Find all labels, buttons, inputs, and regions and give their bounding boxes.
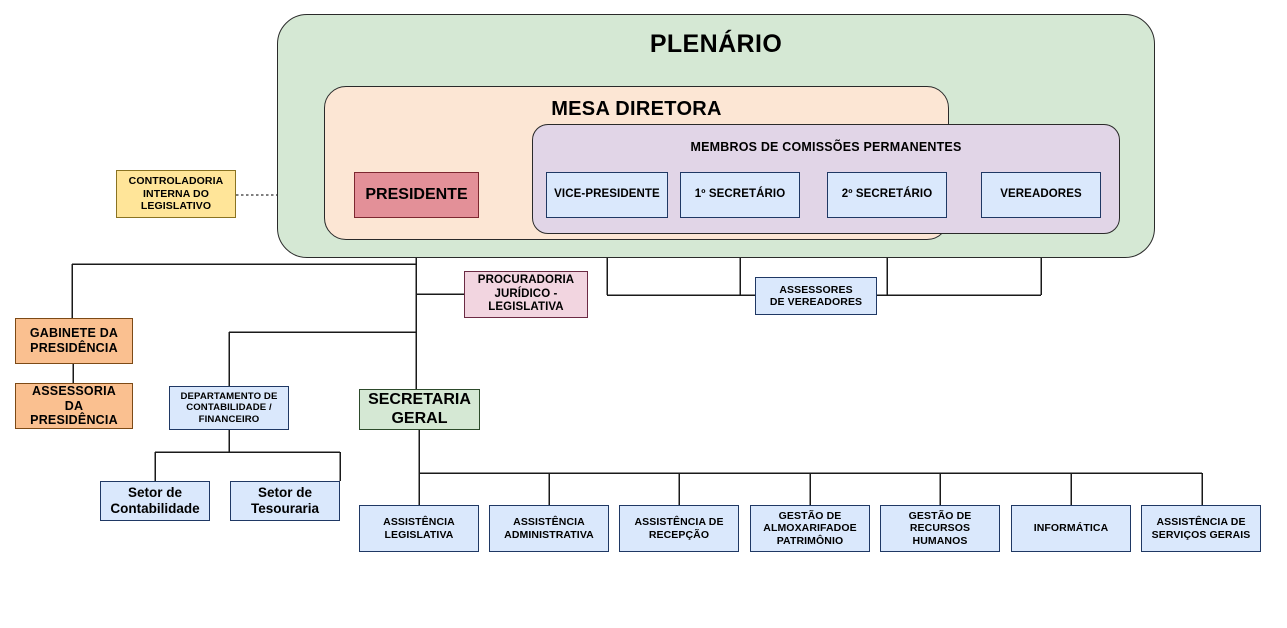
node-label: INFORMÁTICA — [1031, 522, 1112, 534]
label-line: GESTÃO DE — [760, 510, 859, 522]
node-label: PRESIDENTE — [362, 186, 470, 205]
node-secretaria-geral[interactable]: SECRETARIA GERAL — [359, 389, 480, 430]
label-line: LEGISLATIVA — [475, 301, 577, 315]
node-assistencia-legislativa[interactable]: ASSISTÊNCIA LEGISLATIVA — [359, 505, 479, 552]
label-line: Tesouraria — [248, 501, 322, 517]
node-setor-de-tesouraria[interactable]: Setor de Tesouraria — [230, 481, 340, 521]
label-line: ASSESSORES — [767, 284, 865, 296]
node-label: ASSESSORES DE VEREADORES — [764, 284, 868, 309]
label-line: PATRIMÔNIO — [760, 535, 859, 547]
node-assessores-de-vereadores[interactable]: ASSESSORES DE VEREADORES — [755, 277, 877, 315]
node-assistencia-de-recepcao[interactable]: ASSISTÊNCIA DE RECEPÇÃO — [619, 505, 739, 552]
label-line: SECRETARIA — [365, 391, 474, 410]
label-line: ASSISTÊNCIA — [380, 516, 458, 528]
node-label: Setor de Contabilidade — [104, 485, 205, 517]
node-departamento-contabilidade-financeiro[interactable]: DEPARTAMENTO DE CONTABILIDADE / FINANCEI… — [169, 386, 289, 430]
node-label: VICE-PRESIDENTE — [551, 188, 663, 202]
node-label: Setor de Tesouraria — [245, 485, 325, 517]
comissoes-title: MEMBROS DE COMISSÕES PERMANENTES — [533, 141, 1119, 154]
node-label: GABINETE DA PRESIDÊNCIA — [24, 326, 124, 356]
node-vereadores[interactable]: VEREADORES — [981, 172, 1101, 218]
label-line: Setor de — [248, 485, 322, 501]
label-line: CONTABILIDADE / — [178, 402, 281, 413]
node-assistencia-administrativa[interactable]: ASSISTÊNCIA ADMINISTRATIVA — [489, 505, 609, 552]
label-line: DEPARTAMENTO DE — [178, 391, 281, 402]
node-label: CONTROLADORIA INTERNA DO LEGISLATIVO — [123, 175, 230, 212]
label-line: HUMANOS — [906, 535, 975, 547]
node-label: 2º SECRETÁRIO — [839, 188, 936, 202]
label-line: ADMINISTRATIVA — [501, 529, 597, 541]
label-line: DE VEREADORES — [767, 296, 865, 308]
label-line: GABINETE DA — [27, 326, 121, 341]
organizational-chart: PLENÁRIO MESA DIRETORA MEMBROS DE COMISS… — [0, 0, 1287, 628]
node-vice-presidente[interactable]: VICE-PRESIDENTE — [546, 172, 668, 218]
label-line: ASSESSORIA DA — [19, 384, 129, 414]
node-label: ASSISTÊNCIA LEGISLATIVA — [377, 516, 461, 541]
node-label: DEPARTAMENTO DE CONTABILIDADE / FINANCEI… — [175, 391, 284, 425]
node-presidente[interactable]: PRESIDENTE — [354, 172, 479, 218]
node-informatica[interactable]: INFORMÁTICA — [1011, 505, 1131, 552]
node-label: ASSESSORIA DA PRESIDÊNCIA — [16, 384, 132, 428]
label-line: ASSISTÊNCIA DE — [1149, 516, 1254, 528]
label-line: Setor de — [107, 485, 202, 501]
label-line: JURÍDICO - — [475, 288, 577, 302]
node-assistencia-de-servicos-gerais[interactable]: ASSISTÊNCIA DE SERVIÇOS GERAIS — [1141, 505, 1261, 552]
node-label: GESTÃO DE RECURSOS HUMANOS — [903, 510, 978, 547]
node-procuradoria-juridico-legislativa[interactable]: PROCURADORIA JURÍDICO - LEGISLATIVA — [464, 271, 588, 318]
label-line: ALMOXARIFADOE — [760, 522, 859, 534]
node-label: ASSISTÊNCIA DE SERVIÇOS GERAIS — [1146, 516, 1257, 541]
plenario-title: PLENÁRIO — [278, 31, 1154, 57]
label-line: GESTÃO DE — [906, 510, 975, 522]
node-label: ASSISTÊNCIA DE RECEPÇÃO — [628, 516, 729, 541]
label-line: RECURSOS — [906, 522, 975, 534]
label-line: PROCURADORIA — [475, 274, 577, 288]
node-primeiro-secretario[interactable]: 1º SECRETÁRIO — [680, 172, 800, 218]
node-label: PROCURADORIA JURÍDICO - LEGISLATIVA — [472, 274, 580, 315]
node-assessoria-da-presidencia[interactable]: ASSESSORIA DA PRESIDÊNCIA — [15, 383, 133, 429]
node-label: VEREADORES — [997, 188, 1085, 202]
label-line: ASSISTÊNCIA DE — [631, 516, 726, 528]
node-label: GESTÃO DE ALMOXARIFADOE PATRIMÔNIO — [757, 510, 862, 547]
label-line: ASSISTÊNCIA — [501, 516, 597, 528]
node-gabinete-da-presidencia[interactable]: GABINETE DA PRESIDÊNCIA — [15, 318, 133, 364]
label-line: GERAL — [365, 410, 474, 429]
mesa-diretora-title: MESA DIRETORA — [325, 99, 948, 120]
node-label: 1º SECRETÁRIO — [692, 188, 789, 202]
label-line: PRESIDÊNCIA — [19, 413, 129, 428]
node-segundo-secretario[interactable]: 2º SECRETÁRIO — [827, 172, 947, 218]
label-line: CONTROLADORIA — [126, 175, 227, 187]
node-gestao-de-recursos-humanos[interactable]: GESTÃO DE RECURSOS HUMANOS — [880, 505, 1000, 552]
label-line: RECEPÇÃO — [631, 529, 726, 541]
node-label: ASSISTÊNCIA ADMINISTRATIVA — [498, 516, 600, 541]
label-line: SERVIÇOS GERAIS — [1149, 529, 1254, 541]
node-setor-de-contabilidade[interactable]: Setor de Contabilidade — [100, 481, 210, 521]
label-line: PRESIDÊNCIA — [27, 341, 121, 356]
label-line: LEGISLATIVA — [380, 529, 458, 541]
label-line: LEGISLATIVO — [126, 200, 227, 212]
label-line: Contabilidade — [107, 501, 202, 517]
node-label: SECRETARIA GERAL — [362, 391, 477, 429]
label-line: INTERNA DO — [126, 188, 227, 200]
node-controladoria-interna[interactable]: CONTROLADORIA INTERNA DO LEGISLATIVO — [116, 170, 236, 218]
node-gestao-de-almoxarifado-e-patrimonio[interactable]: GESTÃO DE ALMOXARIFADOE PATRIMÔNIO — [750, 505, 870, 552]
label-line: FINANCEIRO — [178, 414, 281, 425]
